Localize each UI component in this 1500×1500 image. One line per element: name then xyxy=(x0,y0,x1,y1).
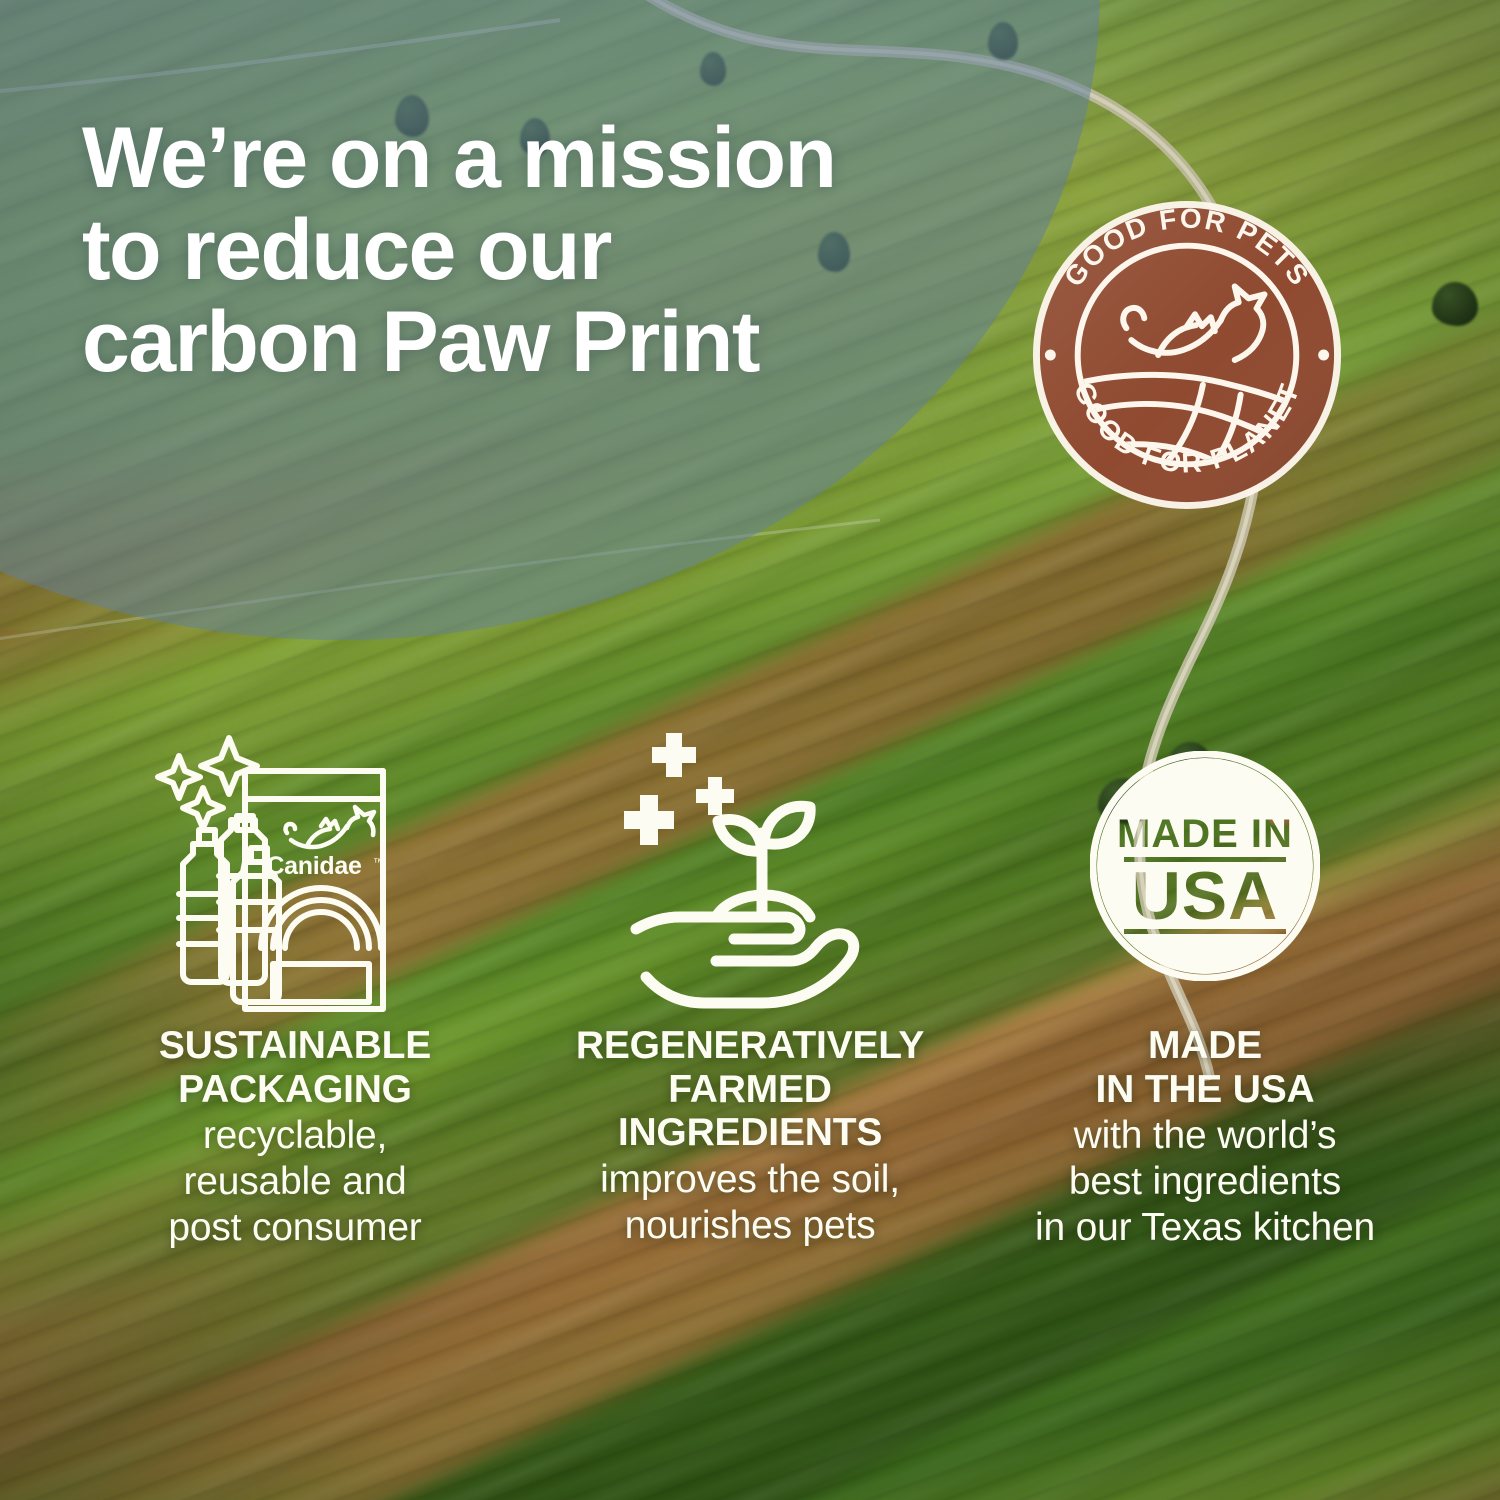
feature-caption: REGENERATIVELY FARMED INGREDIENTS improv… xyxy=(576,1024,924,1248)
sparkle-icon xyxy=(201,738,257,794)
feature-column-made-in-usa: MADE IN USA MADE IN THE USA wi xyxy=(978,716,1433,1250)
sustainable-packaging-art: Canidae ™ xyxy=(145,716,445,1016)
plus-sparkle-icon xyxy=(624,795,674,845)
headline-line-3: carbon Paw Print xyxy=(82,296,1062,388)
made-in-usa-badge-icon: MADE IN USA xyxy=(1090,751,1320,981)
sprout-leaf-right xyxy=(764,806,810,844)
sparkle-icon xyxy=(158,756,200,798)
feature-caption: SUSTAINABLE PACKAGING recyclable, reusab… xyxy=(159,1024,431,1250)
feature-title: MADE IN THE USA xyxy=(1035,1024,1375,1111)
sparkle-icon xyxy=(183,788,223,828)
feature-caption: MADE IN THE USA with the world’s best in… xyxy=(1035,1024,1375,1250)
hand-upper xyxy=(636,917,800,939)
sprout-leaf-left xyxy=(718,819,762,851)
canidae-wordmark: Canidae xyxy=(266,852,362,880)
plus-sparkle-icon xyxy=(652,733,696,777)
feature-body: improves the soil, nourishes pets xyxy=(576,1157,924,1248)
canidae-dog-icon xyxy=(286,807,374,847)
headline-line-2: to reduce our xyxy=(82,204,1062,296)
feature-column-regenerative-ingredients: REGENERATIVELY FARMED INGREDIENTS improv… xyxy=(523,716,978,1248)
plus-sparkle-icon xyxy=(696,777,734,815)
page-title: We’re on a mission to reduce our carbon … xyxy=(82,112,1062,388)
hand-holding-seedling-icon xyxy=(610,721,890,1011)
sustainable-packaging-icon: Canidae ™ xyxy=(145,716,445,1016)
feature-columns: Canidae ™ SUSTAINABLE PACKAGING xyxy=(0,716,1500,1356)
feature-body: recyclable, reusable and post consumer xyxy=(159,1113,431,1250)
good-for-pets-good-for-planet-seal: GOOD FOR PETS GOOD FOR PLANET xyxy=(1028,196,1346,514)
feature-body: with the world’s best ingredients in our… xyxy=(1035,1113,1375,1250)
feature-title: REGENERATIVELY FARMED INGREDIENTS xyxy=(576,1024,924,1155)
headline-line-1: We’re on a mission xyxy=(82,112,1062,204)
marketing-banner: We’re on a mission to reduce our carbon … xyxy=(0,0,1500,1500)
feature-column-sustainable-packaging: Canidae ™ SUSTAINABLE PACKAGING xyxy=(68,716,523,1250)
regenerative-farming-art xyxy=(610,716,890,1016)
made-in-usa-art: MADE IN USA xyxy=(1090,716,1320,1016)
svg-text:™: ™ xyxy=(373,857,384,869)
feature-title: SUSTAINABLE PACKAGING xyxy=(159,1024,431,1111)
